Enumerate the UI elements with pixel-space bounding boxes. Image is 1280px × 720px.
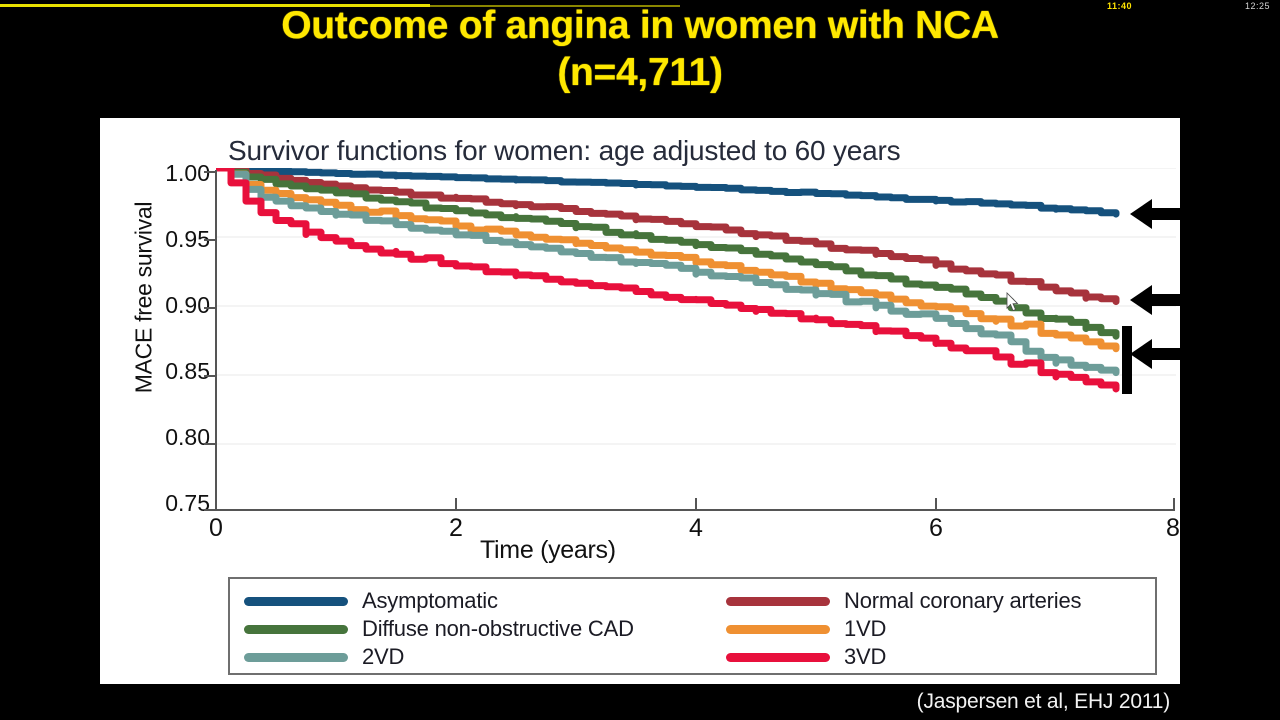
arrow-normal-coronary-icon [1130,282,1192,318]
arrow-cad-group-icon [1130,336,1192,372]
x-tick-mark [455,498,457,510]
attribution-text: (Jaspersen et al, EHJ 2011) [917,690,1170,714]
legend-swatch-asymptomatic [244,597,348,606]
x-tick-label: 8 [1153,514,1193,543]
x-tick-label: 2 [436,514,476,543]
x-tick-mark [695,498,697,510]
legend-label-normal-coronary: Normal coronary arteries [844,588,1081,614]
y-tick-mark [204,171,216,173]
chart-legend: Asymptomatic Diffuse non-obstructive CAD… [228,577,1157,675]
y-tick-label: 0.75 [140,490,210,517]
chart-panel: Survivor functions for women: age adjust… [100,118,1180,684]
x-tick-mark [935,498,937,510]
legend-label-diffuse-cad: Diffuse non-obstructive CAD [362,616,634,642]
legend-swatch-1vd [726,625,830,634]
y-tick-mark [204,443,216,445]
legend-item-asymptomatic[interactable]: Asymptomatic [244,588,498,614]
legend-item-normal-coronary[interactable]: Normal coronary arteries [726,588,1081,614]
arrow-asymptomatic-icon [1130,196,1192,232]
x-tick-label: 0 [196,514,236,543]
legend-swatch-3vd [726,653,830,662]
legend-item-3vd[interactable]: 3VD [726,644,886,670]
legend-swatch-diffuse-cad [244,625,348,634]
y-tick-mark [204,307,216,309]
legend-swatch-2vd [244,653,348,662]
slide-title: Outcome of angina in women with NCA (n=4… [0,2,1280,96]
legend-label-asymptomatic: Asymptomatic [362,588,498,614]
y-tick-mark [204,375,216,377]
x-tick-label: 4 [676,514,716,543]
legend-item-diffuse-cad[interactable]: Diffuse non-obstructive CAD [244,616,634,642]
y-tick-mark [204,239,216,241]
y-tick-label: 0.80 [140,424,210,451]
plot-area [216,168,1176,513]
legend-item-1vd[interactable]: 1VD [726,616,886,642]
slide-title-line-2: (n=4,711) [0,49,1280,96]
slide-title-line-1: Outcome of angina in women with NCA [0,2,1280,49]
chart-title: Survivor functions for women: age adjust… [228,135,1158,167]
y-axis-line [215,170,217,510]
legend-swatch-normal-coronary [726,597,830,606]
x-tick-mark [1173,498,1175,510]
x-tick-mark [215,498,217,510]
slide-canvas: 11:40 12:25 Outcome of angina in women w… [0,0,1280,720]
legend-label-2vd: 2VD [362,644,404,670]
legend-label-1vd: 1VD [844,616,886,642]
x-tick-label: 6 [916,514,956,543]
bracket-bar [1122,326,1132,394]
legend-item-2vd[interactable]: 2VD [244,644,404,670]
legend-label-3vd: 3VD [844,644,886,670]
x-axis-label: Time (years) [480,536,616,565]
y-axis-label: MACE free survival [131,178,158,418]
